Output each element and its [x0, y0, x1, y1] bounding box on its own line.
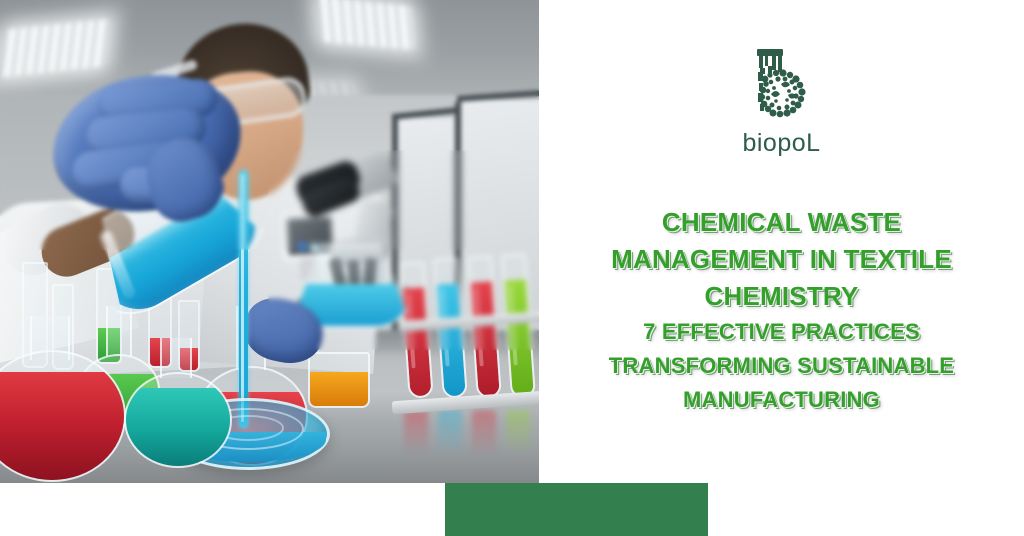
subheadline-line-1: 7 EFFECTIVE PRACTICES	[539, 315, 1024, 349]
test-tube-reflection	[438, 410, 462, 456]
beaker	[308, 352, 370, 408]
headline-line-2: MANAGEMENT IN TEXTILE	[539, 241, 1024, 278]
flask-bulb	[124, 372, 232, 468]
test-tube-reflection	[472, 410, 496, 456]
headline-block: CHEMICAL WASTE MANAGEMENT IN TEXTILE CHE…	[539, 204, 1024, 417]
pouring-stream-highlight	[241, 174, 244, 422]
flask-bulb	[0, 350, 126, 482]
headline-line-1: CHEMICAL WASTE	[539, 204, 1024, 241]
brand-logo[interactable]: biopoL	[539, 46, 1024, 156]
ceiling-light-icon	[318, 0, 415, 50]
test-tube-reflection	[404, 410, 428, 456]
headline-line-3: CHEMISTRY	[539, 278, 1024, 315]
content-panel: biopoL CHEMICAL WASTE MANAGEMENT IN TEXT…	[539, 0, 1024, 536]
banner-root: biopoL CHEMICAL WASTE MANAGEMENT IN TEXT…	[0, 0, 1024, 536]
bottom-green-accent-bar	[445, 483, 708, 536]
logo-wordmark: biopoL	[742, 131, 820, 156]
subheadline-line-2: TRANSFORMING SUSTAINABLE	[539, 349, 1024, 383]
round-bottom-flask	[0, 320, 126, 482]
flask-liquid	[0, 372, 124, 480]
biopol-flask-leaf-logo-icon	[743, 46, 821, 128]
round-bottom-flask	[124, 346, 232, 468]
beaker-liquid	[310, 372, 368, 406]
laboratory-scientist-photo	[0, 0, 539, 483]
flask-liquid	[126, 388, 230, 466]
test-tube-reflection	[506, 410, 530, 456]
subheadline-line-3: MANUFACTURING	[539, 383, 1024, 417]
